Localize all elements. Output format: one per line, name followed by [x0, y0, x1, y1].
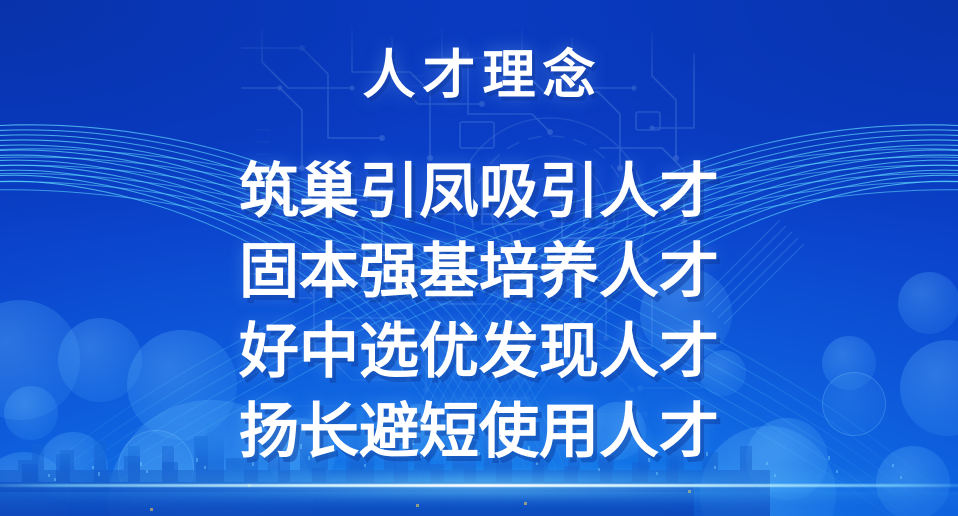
slogan-list: 筑巢引凤吸引人才 固本强基培养人才 好中选优发现人才 扬长避短使用人才: [0, 152, 958, 472]
poster-canvas: 人才理念 筑巢引凤吸引人才 固本强基培养人才 好中选优发现人才 扬长避短使用人才: [0, 0, 958, 516]
slogan-line: 扬长避短使用人才: [0, 392, 958, 472]
slogan-line: 筑巢引凤吸引人才: [0, 152, 958, 232]
page-title: 人才理念: [0, 49, 958, 102]
slogan-line: 固本强基培养人才: [0, 232, 958, 312]
slogan-line: 好中选优发现人才: [0, 312, 958, 392]
poster-content: 人才理念 筑巢引凤吸引人才 固本强基培养人才 好中选优发现人才 扬长避短使用人才: [0, 0, 958, 516]
